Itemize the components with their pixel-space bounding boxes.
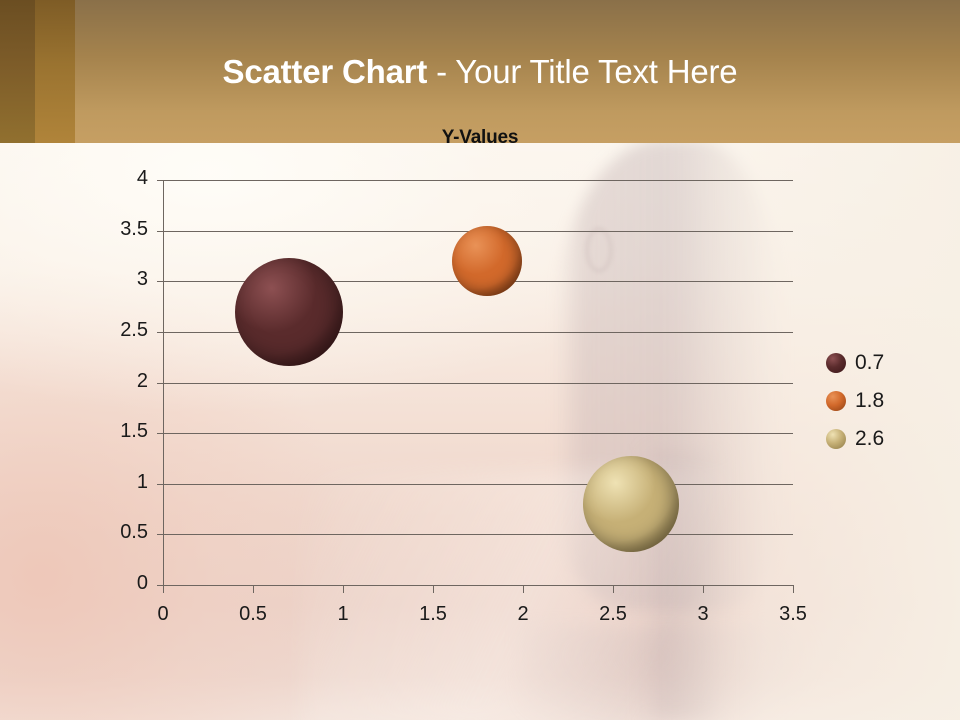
x-axis-tick — [613, 585, 614, 593]
x-axis-label: 1.5 — [403, 603, 463, 626]
chart-legend[interactable]: 0.71.82.6 — [826, 348, 946, 462]
y-axis-label: 1.5 — [96, 420, 148, 443]
y-axis-tick — [157, 383, 164, 384]
legend-item-label: 2.6 — [855, 424, 884, 454]
y-axis-tick — [157, 534, 164, 535]
x-axis-label: 3 — [673, 603, 733, 626]
legend-marker-icon — [826, 429, 846, 449]
y-axis-label: 3 — [96, 268, 148, 291]
gridline-horizontal — [163, 534, 793, 535]
x-axis-tick — [253, 585, 254, 593]
x-axis-label: 3.5 — [763, 603, 823, 626]
header-band-mid — [35, 0, 75, 143]
legend-item[interactable]: 2.6 — [826, 424, 946, 462]
slide-title-bold: Scatter Chart — [223, 53, 428, 90]
x-axis-label: 2.5 — [583, 603, 643, 626]
slide-title: Scatter Chart - Your Title Text Here — [75, 52, 885, 92]
y-axis-label: 4 — [96, 167, 148, 190]
gridline-horizontal — [163, 180, 793, 181]
y-axis-label: 0 — [96, 572, 148, 595]
gridline-horizontal — [163, 383, 793, 384]
x-axis-tick — [163, 585, 164, 593]
y-axis-tick — [157, 180, 164, 181]
y-axis-label: 2 — [96, 370, 148, 393]
chart-y-axis — [163, 180, 164, 592]
y-axis-label: 1 — [96, 471, 148, 494]
y-axis-tick — [157, 433, 164, 434]
y-axis-tick — [157, 231, 164, 232]
x-axis-tick — [433, 585, 434, 593]
x-axis-tick — [343, 585, 344, 593]
bubble-marker[interactable] — [583, 456, 679, 552]
slide-header: Scatter Chart - Your Title Text Here — [0, 0, 960, 143]
slide-canvas: Scatter Chart - Your Title Text Here Y-V… — [0, 0, 960, 720]
legend-item[interactable]: 1.8 — [826, 386, 946, 424]
chart-subtitle: Y-Values — [0, 127, 960, 149]
x-axis-tick — [523, 585, 524, 593]
legend-marker-icon — [826, 391, 846, 411]
x-axis-tick — [703, 585, 704, 593]
legend-item[interactable]: 0.7 — [826, 348, 946, 386]
legend-item-label: 1.8 — [855, 386, 884, 416]
gridline-horizontal — [163, 433, 793, 434]
slide-title-rest: - Your Title Text Here — [427, 53, 737, 90]
header-band-dark — [0, 0, 35, 143]
gridline-horizontal — [163, 484, 793, 485]
gridline-horizontal — [163, 585, 793, 586]
x-axis-label: 2 — [493, 603, 553, 626]
y-axis-label: 0.5 — [96, 521, 148, 544]
x-axis-label: 0 — [133, 603, 193, 626]
bubble-sphere — [235, 258, 343, 366]
y-axis-tick — [157, 281, 164, 282]
bubble-sphere — [452, 226, 522, 296]
bubble-marker[interactable] — [235, 258, 343, 366]
legend-marker-icon — [826, 353, 846, 373]
y-axis-label: 3.5 — [96, 218, 148, 241]
bubble-marker[interactable] — [452, 226, 522, 296]
y-axis-label: 2.5 — [96, 319, 148, 342]
legend-item-label: 0.7 — [855, 348, 884, 378]
bubble-sphere — [583, 456, 679, 552]
x-axis-tick — [793, 585, 794, 593]
x-axis-label: 1 — [313, 603, 373, 626]
y-axis-tick — [157, 484, 164, 485]
x-axis-label: 0.5 — [223, 603, 283, 626]
y-axis-tick — [157, 332, 164, 333]
